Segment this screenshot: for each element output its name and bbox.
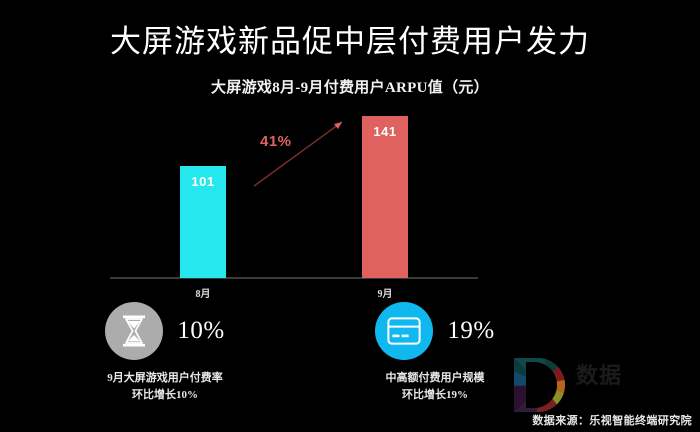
page-title: 大屏游戏新品促中层付费用户发力 — [0, 22, 700, 62]
stat-caption-line2: 环比增长10% — [40, 387, 290, 404]
credit-card-icon — [387, 317, 421, 345]
growth-arrow-icon — [250, 110, 350, 190]
stat-top-row: 10% — [40, 298, 290, 364]
stat-percent-high-spend-users: 19% — [447, 317, 494, 345]
stat-caption-payment-rate: 9月大屏游戏用户付费率 环比增长10% — [40, 370, 290, 404]
stat-card-payment-rate: 10% 9月大屏游戏用户付费率 环比增长10% — [40, 298, 290, 404]
bar-value-august: 101 — [180, 174, 226, 189]
brand-wordmark: 数据 — [576, 364, 622, 388]
stat-caption-line1: 9月大屏游戏用户付费率 — [107, 372, 223, 384]
hourglass-icon — [119, 314, 149, 348]
chart-subtitle: 大屏游戏8月-9月付费用户ARPU值（元） — [0, 78, 700, 98]
stat-caption-line1: 中高额付费用户规模 — [386, 372, 485, 384]
bar-august[interactable]: 101 — [180, 166, 226, 278]
bar-chart: 101 141 8月 9月 41% — [110, 105, 478, 279]
growth-percent-label: 41% — [260, 133, 292, 150]
credit-card-icon-circle — [375, 302, 433, 360]
slide-root: 大屏游戏新品促中层付费用户发力 大屏游戏8月-9月付费用户ARPU值（元） 10… — [0, 0, 700, 432]
stat-percent-payment-rate: 10% — [177, 317, 224, 345]
hourglass-icon-circle — [105, 302, 163, 360]
bar-value-september: 141 — [362, 124, 408, 139]
data-source-label: 数据来源：乐视智能终端研究院 — [532, 412, 692, 428]
x-axis-line — [110, 277, 478, 279]
stat-top-row: 19% — [310, 298, 560, 364]
bar-september[interactable]: 141 — [362, 116, 408, 278]
brand-logo-icon — [512, 356, 572, 414]
